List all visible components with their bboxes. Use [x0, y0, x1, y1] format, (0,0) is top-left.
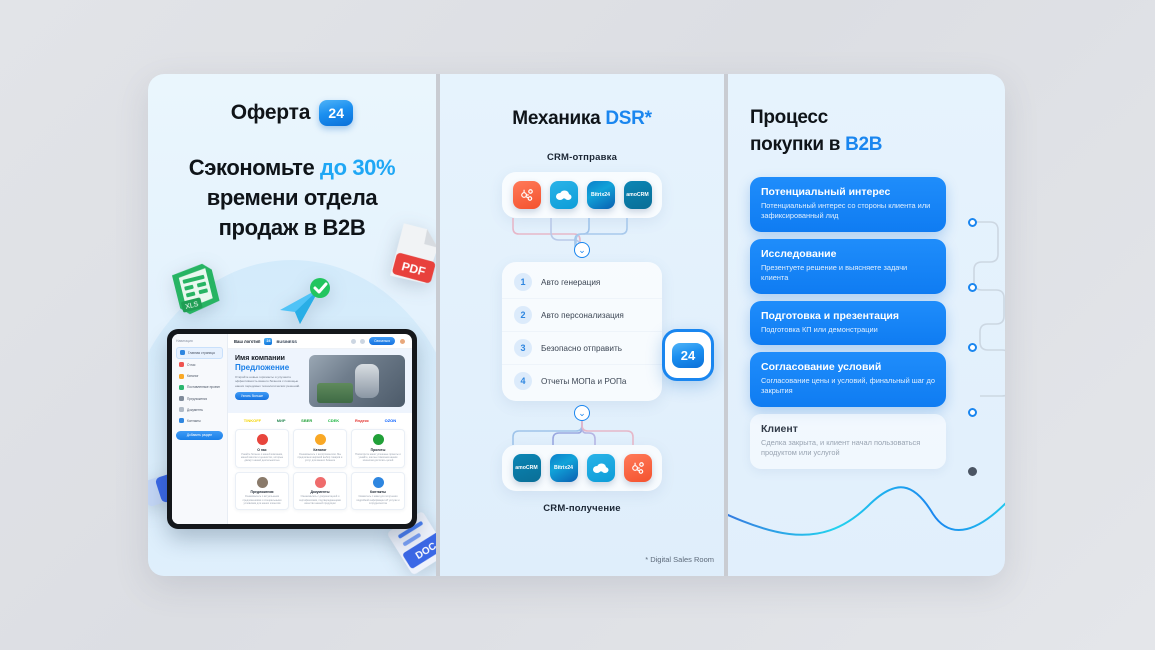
- dsr-sidebar-title: Навигация: [176, 339, 223, 343]
- nav-item-icon: [179, 418, 184, 423]
- step-label: Авто генерация: [541, 278, 600, 287]
- dsr-main: Ваш логотип 24 BUSINESS Связаться Имя ко…: [228, 334, 412, 524]
- dsr-sidebar: Навигация Главная страницаО насКаталогПо…: [172, 334, 228, 524]
- bitrix24-badge-number: 24: [672, 343, 704, 368]
- stage-card-list: Потенциальный интересПотенциальный интер…: [750, 177, 946, 469]
- panel3-title-line2: покупки в: [750, 134, 845, 155]
- nav-item-label: Предложения: [187, 397, 207, 401]
- stage-card-title: Согласование условий: [761, 361, 935, 373]
- stage-card-title: Потенциальный интерес: [761, 186, 935, 198]
- dsr-nav-item[interactable]: Каталог: [176, 371, 223, 381]
- nav-item-label: О нас: [187, 363, 196, 367]
- paper-plane-icon: [276, 276, 336, 330]
- dsr-brand-row: TINKOFFМИРSBERCDEKЯндексOZON: [228, 413, 412, 427]
- connector-bottom: ⌄: [440, 401, 724, 445]
- stage-node: [968, 343, 977, 352]
- headline-line3: продаж в B2B: [219, 215, 366, 240]
- brand-logo: CDEK: [328, 418, 339, 423]
- dsr-nav-item[interactable]: Документы: [176, 405, 223, 415]
- stage-card[interactable]: КлиентСделка закрыта, и клиент начал пол…: [750, 414, 946, 469]
- nav-item-label: Поставленные проекты: [187, 385, 220, 389]
- dsr-nav-item[interactable]: Контакты: [176, 416, 223, 426]
- stage-node: [968, 408, 977, 417]
- stage-node: [968, 218, 977, 227]
- stage-card[interactable]: Потенциальный интересПотенциальный интер…: [750, 177, 946, 232]
- stage-card-title: Исследование: [761, 248, 935, 260]
- dsr-section-card[interactable]: КаталогОзнакомьтесь с ассортиментом. Мы …: [293, 429, 347, 468]
- section-card-title: Проекты: [354, 448, 402, 452]
- steps-list: 1Авто генерация2Авто персонализация3Безо…: [502, 262, 662, 401]
- panel2-title-highlight: DSR*: [605, 108, 651, 129]
- brand-logo: МИР: [277, 418, 286, 423]
- nav-item-icon: [179, 385, 184, 390]
- dsr-section-card[interactable]: ПроектыПосмотрите наши успешные проекты …: [351, 429, 405, 468]
- salesforce-icon: [550, 181, 578, 209]
- step-item[interactable]: 4Отчеты МОПа и РОПа: [502, 364, 662, 397]
- brand-logo: OZON: [385, 418, 397, 423]
- stage-connector-rail: [968, 195, 1005, 467]
- dsr-contact-button[interactable]: Связаться: [369, 337, 395, 345]
- section-card-desc: Ознакомьтесь с документацией и сертифика…: [296, 495, 344, 505]
- three-panel-deck: Оферта 24 Сэкономьте до 30% времени отде…: [148, 74, 1005, 576]
- section-card-desc: Свяжитесь с нами для получения подробной…: [354, 495, 402, 505]
- panel-mechanics: Механика DSR* CRM-отправка Bitrix24 amoC…: [440, 74, 724, 576]
- bitrix24-floating-badge: 24: [662, 329, 714, 381]
- headline-line2: времени отдела: [207, 185, 378, 210]
- panel1-title: Оферта: [231, 101, 310, 125]
- section-card-icon: [373, 434, 384, 445]
- brand-logo: Яндекс: [355, 418, 369, 423]
- stage-card[interactable]: Согласование условийСогласование цены и …: [750, 352, 946, 407]
- stage-card[interactable]: ИсследованиеПрезентуете решение и выясня…: [750, 239, 946, 294]
- section-card-desc: Ознакомьтесь с актуальными предложениями…: [238, 495, 286, 505]
- dsr-section-card[interactable]: ПредложенияОзнакомьтесь с актуальными пр…: [235, 472, 289, 511]
- dsr-logo-secondary: BUSINESS: [276, 339, 296, 344]
- dsr-section-card[interactable]: ДокументыОзнакомьтесь с документацией и …: [293, 472, 347, 511]
- tablet-screen: Навигация Главная страницаО насКаталогПо…: [172, 334, 412, 524]
- bitrix24-badge: 24: [319, 100, 353, 126]
- dsr-hero: Имя компании Предложение Откройте новые …: [228, 349, 412, 413]
- nav-item-icon: [179, 396, 184, 401]
- avatar[interactable]: [399, 338, 406, 345]
- section-card-icon: [373, 477, 384, 488]
- headline-highlight: до 30%: [320, 155, 395, 180]
- step-label: Безопасно отправить: [541, 344, 622, 353]
- nav-item-icon: [179, 362, 184, 367]
- step-number: 4: [514, 372, 532, 390]
- brand-logo: SBER: [301, 418, 312, 423]
- step-number: 1: [514, 273, 532, 291]
- stage-node: [968, 283, 977, 292]
- dsr-nav-item[interactable]: Поставленные проекты: [176, 383, 223, 393]
- step-number: 3: [514, 339, 532, 357]
- step-label: Отчеты МОПа и РОПа: [541, 377, 626, 386]
- dsr-add-section-button[interactable]: Добавить раздел: [176, 431, 223, 440]
- dsr-offer-title: Предложение: [235, 363, 303, 372]
- amocrm-icon: amoCRM: [513, 454, 541, 482]
- panel3-title: Процесс покупки в B2B: [750, 104, 1005, 158]
- section-card-icon: [257, 477, 268, 488]
- step-number: 2: [514, 306, 532, 324]
- connector-top: ⌄: [440, 218, 724, 262]
- dsr-nav-list: Главная страницаО насКаталогПоставленные…: [176, 347, 223, 426]
- step-item[interactable]: 2Авто персонализация: [502, 298, 662, 331]
- nav-item-icon: [180, 350, 185, 355]
- stage-card-title: Клиент: [761, 423, 935, 435]
- stage-card-desc: Потенциальный интерес со стороны клиента…: [761, 201, 935, 222]
- dsr-section-card[interactable]: КонтактыСвяжитесь с нами для получения п…: [351, 472, 405, 511]
- stage-card-desc: Согласование цены и условий, финальный ш…: [761, 376, 935, 397]
- step-label: Авто персонализация: [541, 311, 624, 320]
- nav-item-icon: [179, 407, 184, 412]
- dsr-section-card[interactable]: О насУзнайте больше о нашей компании, на…: [235, 429, 289, 468]
- crm-receive-logos: amoCRM Bitrix24: [502, 445, 662, 491]
- dsr-hero-text: Имя компании Предложение Откройте новые …: [235, 355, 303, 407]
- panel3-title-line1: Процесс: [750, 107, 828, 128]
- dsr-topbar: Ваш логотип 24 BUSINESS Связаться: [228, 334, 412, 349]
- dsr-hero-paragraph: Откройте новые горизонты и улучшите эффе…: [235, 375, 303, 388]
- crm-receive-label: CRM-получение: [440, 503, 724, 514]
- section-card-icon: [315, 477, 326, 488]
- section-card-icon: [257, 434, 268, 445]
- nav-item-label: Контакты: [187, 419, 201, 423]
- tablet-mockup: Навигация Главная страницаО насКаталогПо…: [167, 329, 417, 529]
- headline-line1-part1: Сэкономьте: [189, 155, 320, 180]
- dsr-nav-item[interactable]: О нас: [176, 360, 223, 370]
- panel3-title-highlight: B2B: [845, 134, 882, 155]
- section-card-desc: Узнайте больше о нашей компании, нашей м…: [238, 453, 286, 463]
- hubspot-icon: [624, 454, 652, 482]
- section-card-title: Документы: [296, 490, 344, 494]
- dsr-card-grid: О насУзнайте больше о нашей компании, на…: [228, 427, 412, 516]
- section-card-title: Предложения: [238, 490, 286, 494]
- section-card-desc: Посмотрите наши успешные проекты и узнай…: [354, 453, 402, 463]
- lock-icon[interactable]: [351, 339, 356, 344]
- crm-send-label: CRM-отправка: [440, 152, 724, 163]
- bell-icon[interactable]: [360, 339, 365, 344]
- dsr-bitrix-badge: 24: [264, 338, 272, 345]
- stage-card[interactable]: Подготовка и презентацияПодготовка КП ил…: [750, 301, 946, 345]
- section-card-title: Контакты: [354, 490, 402, 494]
- dsr-nav-item[interactable]: Предложения: [176, 394, 223, 404]
- section-card-title: Каталог: [296, 448, 344, 452]
- stage-node-final: [968, 467, 977, 476]
- panel2-title: Механика DSR*: [440, 108, 724, 130]
- dsr-company-name: Имя компании: [235, 355, 303, 362]
- step-item[interactable]: 1Авто генерация: [502, 266, 662, 298]
- crm-send-logos: Bitrix24 amoCRM: [502, 172, 662, 218]
- dsr-learn-more-button[interactable]: Узнать больше: [235, 392, 269, 400]
- section-card-icon: [315, 434, 326, 445]
- panel-process: Процесс покупки в B2B Потенциальный инте…: [728, 74, 1005, 576]
- stage-card-desc: Сделка закрыта, и клиент начал пользоват…: [761, 438, 935, 459]
- amocrm-icon: amoCRM: [624, 181, 652, 209]
- footnote: * Digital Sales Room: [645, 555, 714, 564]
- stage-card-title: Подготовка и презентация: [761, 310, 935, 322]
- panel1-title-row: Оферта 24: [148, 100, 436, 126]
- nav-item-label: Главная страница: [188, 351, 215, 355]
- nav-item-label: Каталог: [187, 374, 199, 378]
- nav-item-icon: [179, 374, 184, 379]
- brand-logo: TINKOFF: [244, 418, 261, 423]
- panel2-title-text: Механика: [512, 108, 605, 129]
- dsr-logo: Ваш логотип: [234, 339, 260, 344]
- bitrix24-icon: Bitrix24: [550, 454, 578, 482]
- panel-offer: Оферта 24 Сэкономьте до 30% времени отде…: [148, 74, 436, 576]
- dsr-hero-image: [309, 355, 405, 407]
- hubspot-icon: [513, 181, 541, 209]
- bitrix24-icon: Bitrix24: [587, 181, 615, 209]
- nav-item-label: Документы: [187, 408, 203, 412]
- salesforce-icon: [587, 454, 615, 482]
- slide-canvas: Оферта 24 Сэкономьте до 30% времени отде…: [0, 0, 1155, 650]
- section-card-desc: Ознакомьтесь с ассортиментом. Мы предлаг…: [296, 453, 344, 463]
- dsr-nav-item[interactable]: Главная страница: [176, 347, 223, 359]
- section-card-title: О нас: [238, 448, 286, 452]
- chevron-down-icon-top: ⌄: [574, 242, 590, 258]
- step-item[interactable]: 3Безопасно отправить: [502, 331, 662, 364]
- stage-card-desc: Подготовка КП или демонстрации: [761, 325, 935, 335]
- stage-card-desc: Презентуете решение и выясняете задачи к…: [761, 263, 935, 284]
